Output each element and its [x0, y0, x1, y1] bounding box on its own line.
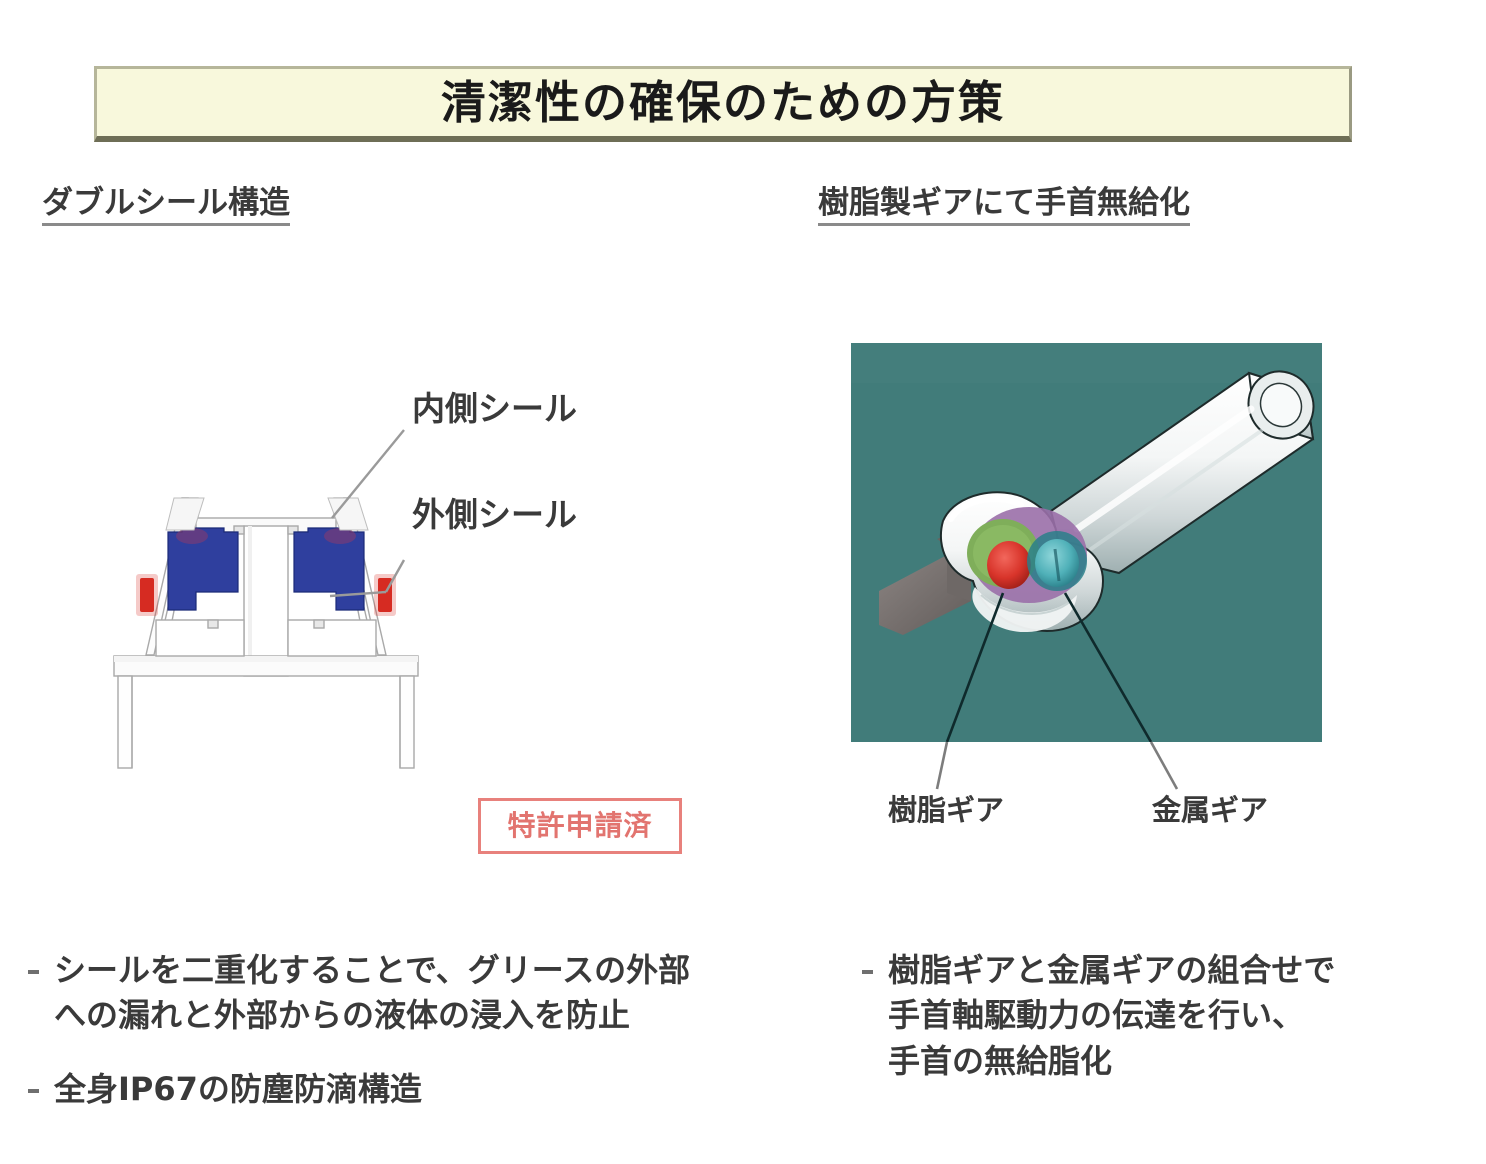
callout-label-resin-gear: 樹脂ギア [888, 796, 1004, 825]
bullet-text: 全身IP67の防塵防滴構造 [54, 1067, 422, 1112]
double-seal-cross-section-drawing [96, 470, 436, 770]
wrist-gear-photo [851, 343, 1322, 742]
left-bullet-list: シールを二重化することで、グリースの外部への漏れと外部からの液体の浸入を防止 全… [28, 948, 798, 1140]
bullet-marker-icon [28, 1067, 42, 1093]
bullet-text: シールを二重化することで、グリースの外部への漏れと外部からの液体の浸入を防止 [54, 948, 690, 1039]
bullet-marker-icon [862, 948, 876, 974]
right-bullet-list: 樹脂ギアと金属ギアの組合せで手首軸駆動力の伝達を行い、手首の無給脂化 [862, 948, 1442, 1112]
list-item: 全身IP67の防塵防滴構造 [28, 1067, 798, 1112]
callout-label-inner-seal: 内側シール [412, 392, 577, 425]
list-item: 樹脂ギアと金属ギアの組合せで手首軸駆動力の伝達を行い、手首の無給脂化 [862, 948, 1442, 1084]
patent-pending-stamp-text: 特許申請済 [507, 812, 652, 840]
callout-label-outer-seal: 外側シール [412, 498, 577, 531]
bullet-text: 樹脂ギアと金属ギアの組合せで手首軸駆動力の伝達を行い、手首の無給脂化 [888, 948, 1335, 1084]
callout-label-metal-gear: 金属ギア [1152, 796, 1268, 825]
title-banner: 清潔性の確保のための方策 [94, 66, 1352, 142]
patent-pending-stamp: 特許申請済 [478, 798, 682, 854]
page-title: 清潔性の確保のための方策 [441, 80, 1005, 125]
left-column-heading: ダブルシール構造 [42, 186, 290, 226]
bullet-marker-icon [28, 948, 42, 974]
list-item: シールを二重化することで、グリースの外部への漏れと外部からの液体の浸入を防止 [28, 948, 798, 1039]
right-column-heading: 樹脂製ギアにて手首無給化 [818, 186, 1190, 226]
